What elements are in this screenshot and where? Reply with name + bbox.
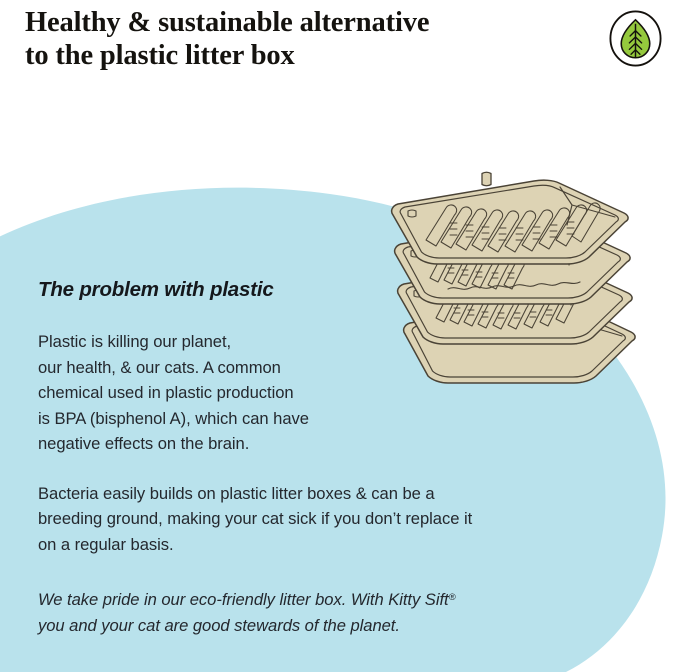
closing-text-tail: you and your cat are good stewards of th… [38, 616, 400, 635]
paragraph-bacteria: Bacteria easily builds on plastic litter… [38, 481, 598, 558]
leaf-icon [606, 9, 665, 68]
page-title: Healthy & sustainable alternative to the… [25, 6, 585, 72]
closing-text-lead: We take pride in our eco-friendly litter… [38, 590, 449, 609]
infographic-page: Healthy & sustainable alternative to the… [0, 0, 679, 672]
tray-top [392, 172, 628, 264]
section-heading: The problem with plastic [38, 277, 598, 303]
paragraph-problem: Plastic is killing our planet, our healt… [38, 329, 598, 457]
main-content: The problem with plastic Plastic is kill… [38, 277, 598, 638]
paragraph-closing: We take pride in our eco-friendly litter… [38, 585, 598, 638]
page-header: Healthy & sustainable alternative to the… [0, 0, 679, 92]
registered-trademark-mark: ® [449, 592, 456, 603]
